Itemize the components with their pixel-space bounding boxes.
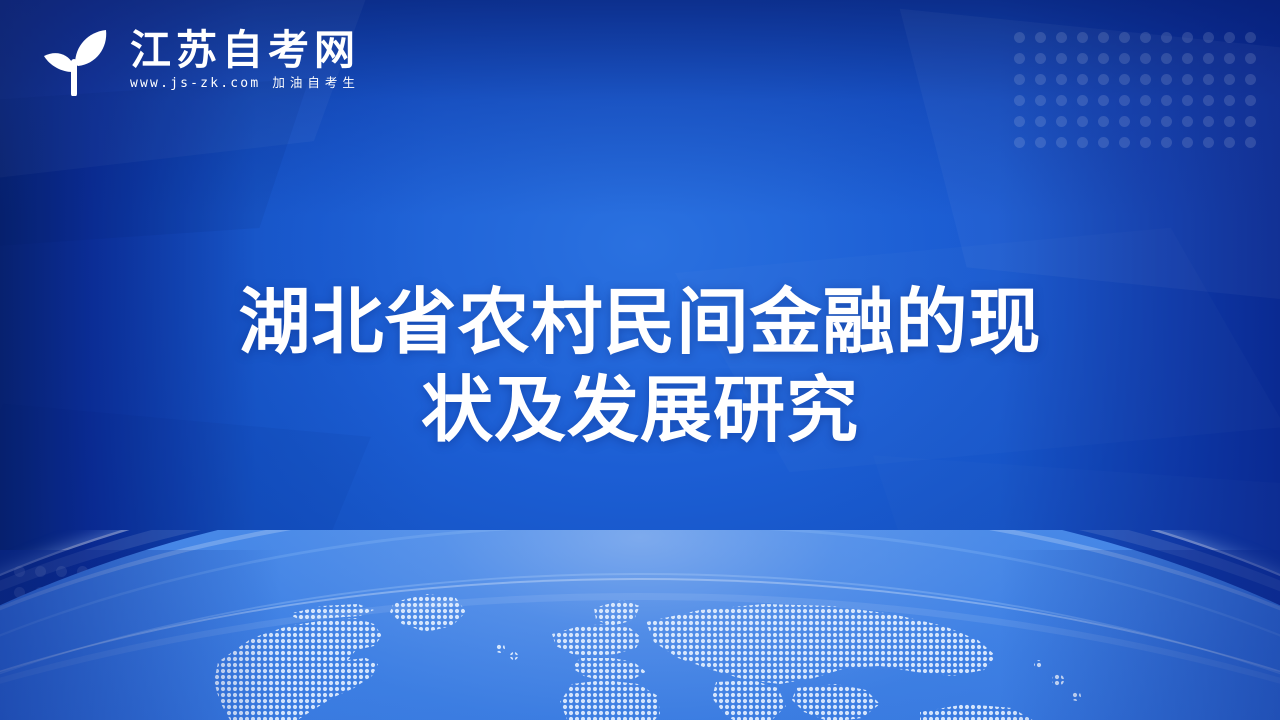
- logo-text-group: 江苏自考网 www.js-zk.com 加油自考生: [130, 30, 360, 90]
- page-title-line-1: 湖北省农村民间金融的现: [150, 278, 1130, 366]
- site-slogan: 加油自考生: [272, 77, 360, 90]
- dotted-world-map: [160, 584, 1120, 720]
- site-logo[interactable]: 江苏自考网 www.js-zk.com 加油自考生: [34, 24, 360, 96]
- globe-region: [0, 530, 1280, 720]
- slide-canvas: NEWS NEWS: [0, 0, 1280, 720]
- page-title: 湖北省农村民间金融的现 状及发展研究: [0, 278, 1280, 454]
- site-name: 江苏自考网: [130, 30, 360, 71]
- site-url: www.js-zk.com: [130, 77, 260, 90]
- logo-subline: www.js-zk.com 加油自考生: [130, 77, 360, 90]
- page-title-line-2: 状及发展研究: [150, 366, 1130, 454]
- sprout-icon: [34, 24, 114, 96]
